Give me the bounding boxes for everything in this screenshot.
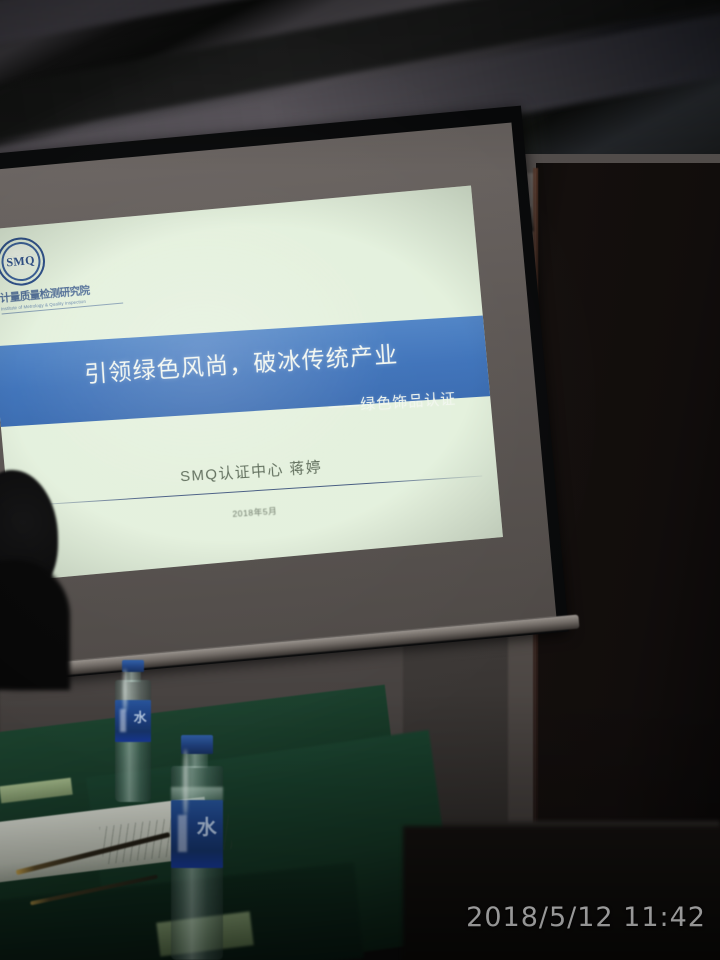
seal-text: SMQ xyxy=(0,252,43,271)
slide-logo: SMQ 计量质量检测研究院 Institute of Metrology & Q… xyxy=(0,228,129,315)
smq-seal-icon: SMQ xyxy=(0,235,47,287)
bottle-neck xyxy=(186,754,208,768)
bottle-highlight xyxy=(123,669,127,712)
bottle-label: 水 xyxy=(115,700,151,742)
slide-date: 2018年5月 xyxy=(10,489,500,534)
bottle-label-glyph: 水 xyxy=(197,811,217,840)
projected-slide: SMQ 计量质量检测研究院 Institute of Metrology & Q… xyxy=(0,185,503,580)
water-bottle-back: 水 xyxy=(112,660,154,802)
water-bottle-front: 水 xyxy=(168,735,226,960)
camera-timestamp: 2018/5/12 11:42 xyxy=(466,902,706,933)
dark-doorway-column xyxy=(536,163,720,854)
bottle-water-level xyxy=(171,787,223,801)
screen-surface: SMQ 计量质量检测研究院 Institute of Metrology & Q… xyxy=(0,122,557,666)
bottle-neck xyxy=(125,672,141,682)
bottle-label: 水 xyxy=(171,800,223,868)
bottle-label-glyph: 水 xyxy=(134,707,147,726)
floor-area xyxy=(403,826,720,960)
photo-scene: SMQ 计量质量检测研究院 Institute of Metrology & Q… xyxy=(0,0,720,960)
projection-screen: SMQ 计量质量检测研究院 Institute of Metrology & Q… xyxy=(0,105,569,682)
